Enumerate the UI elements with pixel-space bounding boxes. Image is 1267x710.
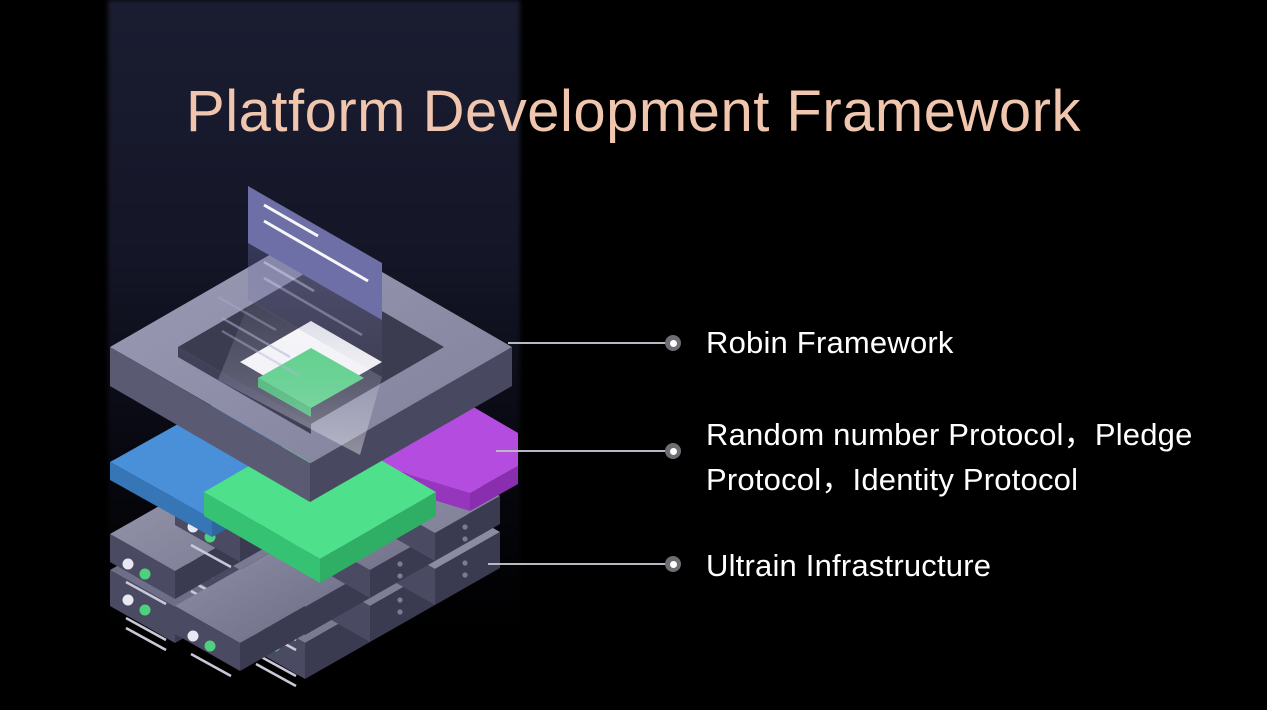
leader-line-protocols (496, 450, 668, 452)
bullet-dot-icon (665, 335, 681, 351)
slide-root: Platform Development Framework (0, 0, 1267, 710)
bullet-dot-icon (665, 556, 681, 572)
callout-label-robin-framework: Robin Framework (706, 320, 954, 365)
bullet-dot-icon (665, 443, 681, 459)
callout-label-ultrain-infrastructure: Ultrain Infrastructure (706, 543, 991, 588)
isometric-stack-diagram (0, 0, 700, 710)
leader-line-robin (508, 342, 668, 344)
callout-label-protocols: Random number Protocol，Pledge Protocol，I… (706, 412, 1193, 502)
leader-line-infrastructure (488, 563, 668, 565)
